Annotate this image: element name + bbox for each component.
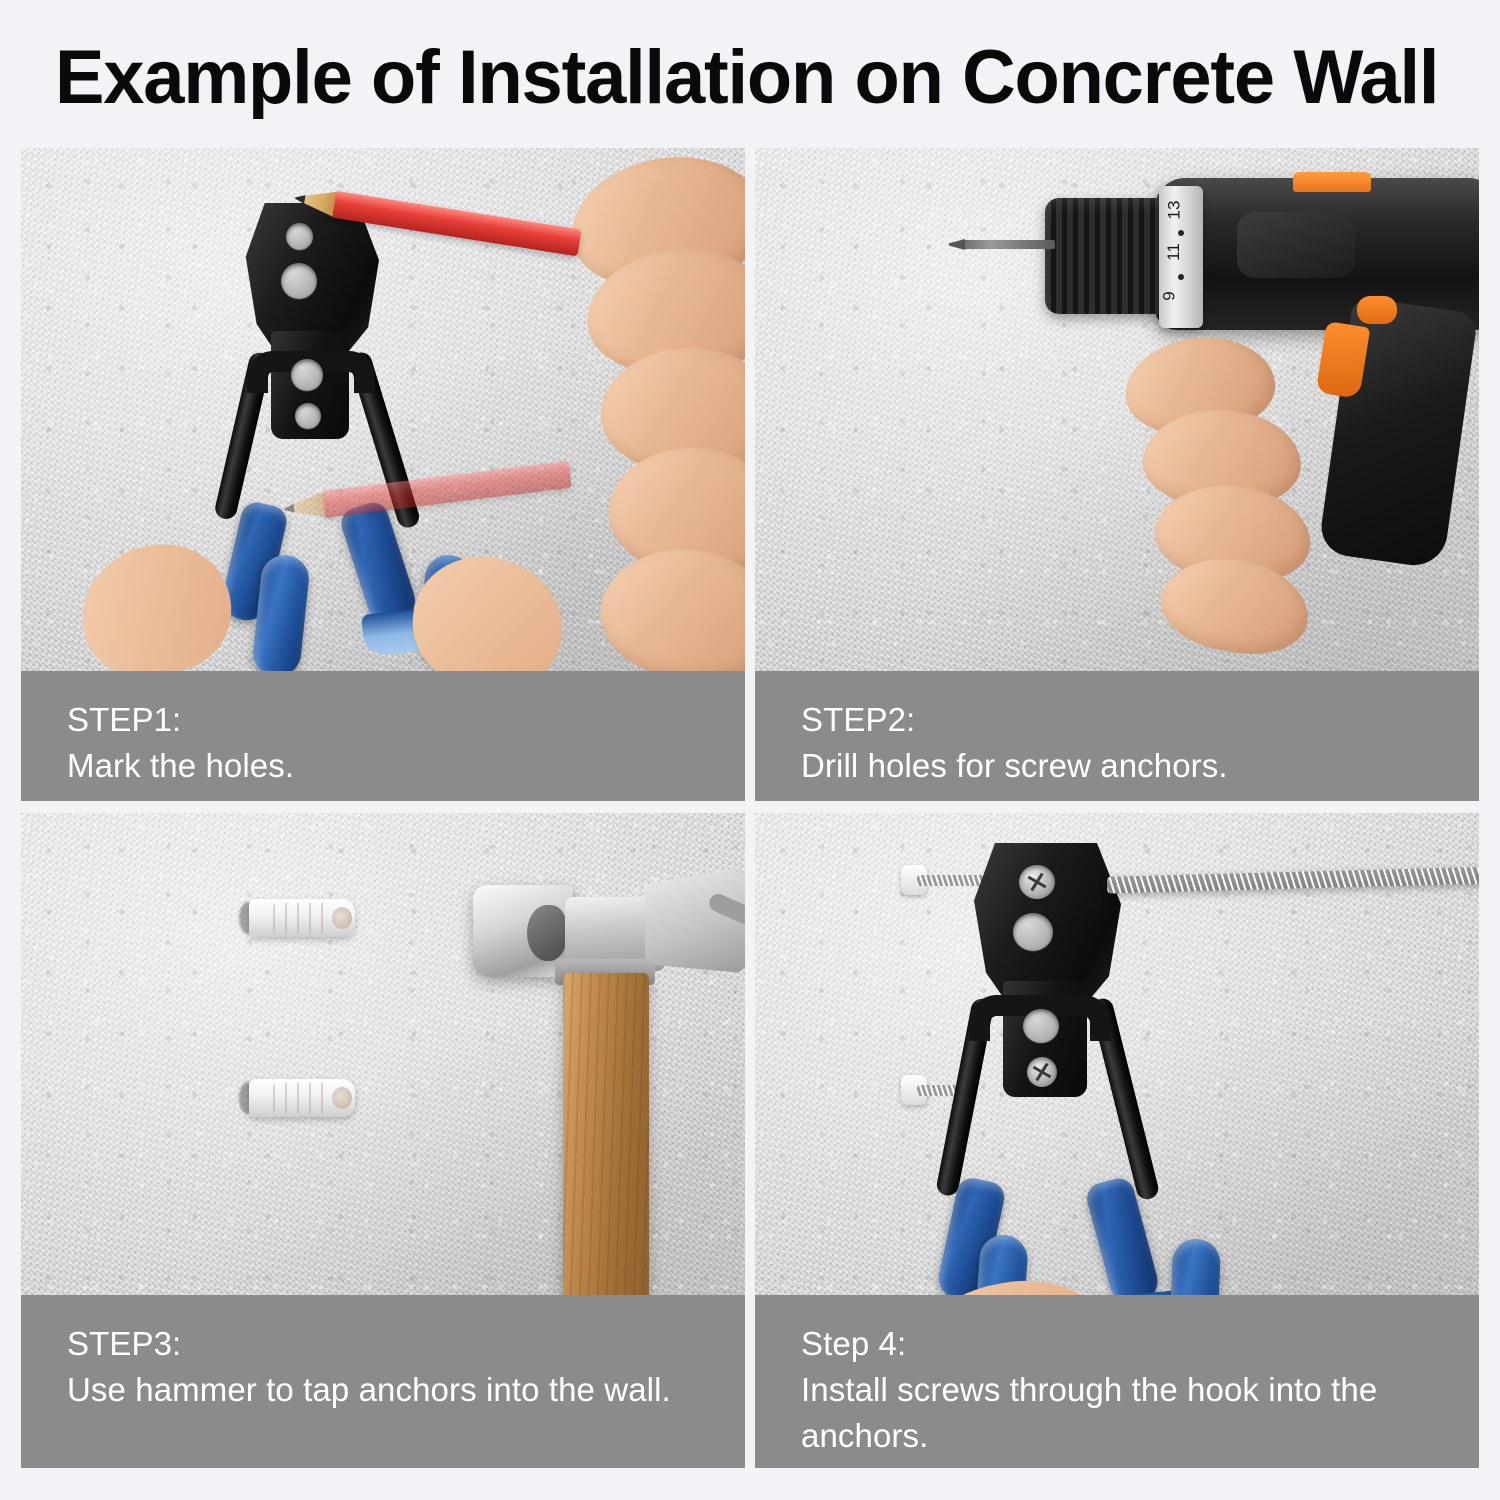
drill-top-accent <box>1293 172 1371 192</box>
drill-clutch-collar: 13 11 9 <box>1159 186 1203 328</box>
step-3-caption: STEP3: Use hammer to tap anchors into th… <box>21 1295 745 1468</box>
step-4-caption: Step 4: Install screws through the hook … <box>755 1295 1479 1468</box>
step-panel-3: STEP3: Use hammer to tap anchors into th… <box>21 813 745 1468</box>
mounting-hole-bottom <box>295 403 321 429</box>
step-3-text: Use hammer to tap anchors into the wall. <box>67 1367 701 1413</box>
step-3-label: STEP3: <box>67 1321 701 1367</box>
installed-screw-lower <box>1027 1057 1057 1087</box>
step-panel-1: STEP1: Mark the holes. <box>21 148 745 801</box>
anchor-ridges <box>273 1083 331 1113</box>
drill-direction-switch <box>1357 296 1397 324</box>
step-grid: STEP1: Mark the holes. 13 11 9 <box>21 148 1479 1468</box>
masonry-drill-bit <box>963 240 1055 249</box>
step-2-caption: STEP2: Drill holes for screw anchors. <box>755 671 1479 801</box>
step-panel-4: Step 4: Install screws through the hook … <box>755 813 1479 1468</box>
page-title: Example of Installation on Concrete Wall <box>55 32 1420 124</box>
step-panel-2: 13 11 9 STEP2: Drill holes for <box>755 148 1479 801</box>
step-4-label: Step 4: <box>801 1321 1435 1367</box>
hammer-claw <box>645 869 745 977</box>
mounting-hole-top <box>286 223 313 250</box>
clutch-number-9: 9 <box>1160 291 1180 300</box>
step-2-label: STEP2: <box>801 697 1435 743</box>
wall-hook-bracket <box>243 203 379 443</box>
wall-hook-bracket <box>971 843 1121 1093</box>
step-2-text: Drill holes for screw anchors. <box>801 743 1435 789</box>
clutch-dot-2 <box>1178 274 1184 280</box>
step-1-caption: STEP1: Mark the holes. <box>21 671 745 801</box>
mounting-hole-lower <box>1023 1009 1059 1043</box>
wall-anchor-lower <box>239 1079 355 1117</box>
clutch-number-13: 13 <box>1164 201 1184 220</box>
installed-screw-top <box>1019 865 1055 899</box>
step-4-text: Install screws through the hook into the… <box>801 1367 1435 1459</box>
step-1-text: Mark the holes. <box>67 743 701 789</box>
hand-holding-drill <box>1125 328 1425 658</box>
wall-anchor-upper <box>239 899 355 937</box>
mounting-hole-lower <box>291 359 323 391</box>
drill-chuck <box>1045 198 1173 314</box>
step-1-label: STEP1: <box>67 697 701 743</box>
finger-palm-edge <box>592 537 745 694</box>
mounting-hole-upper <box>1013 913 1053 951</box>
mounting-hole-upper <box>281 263 317 299</box>
installation-infographic: Example of Installation on Concrete Wall <box>0 0 1500 1500</box>
anchor-ridges <box>273 903 331 933</box>
clutch-number-11: 11 <box>1164 243 1184 261</box>
drill-body-panel <box>1237 212 1355 278</box>
clutch-dot-1 <box>1178 230 1184 236</box>
